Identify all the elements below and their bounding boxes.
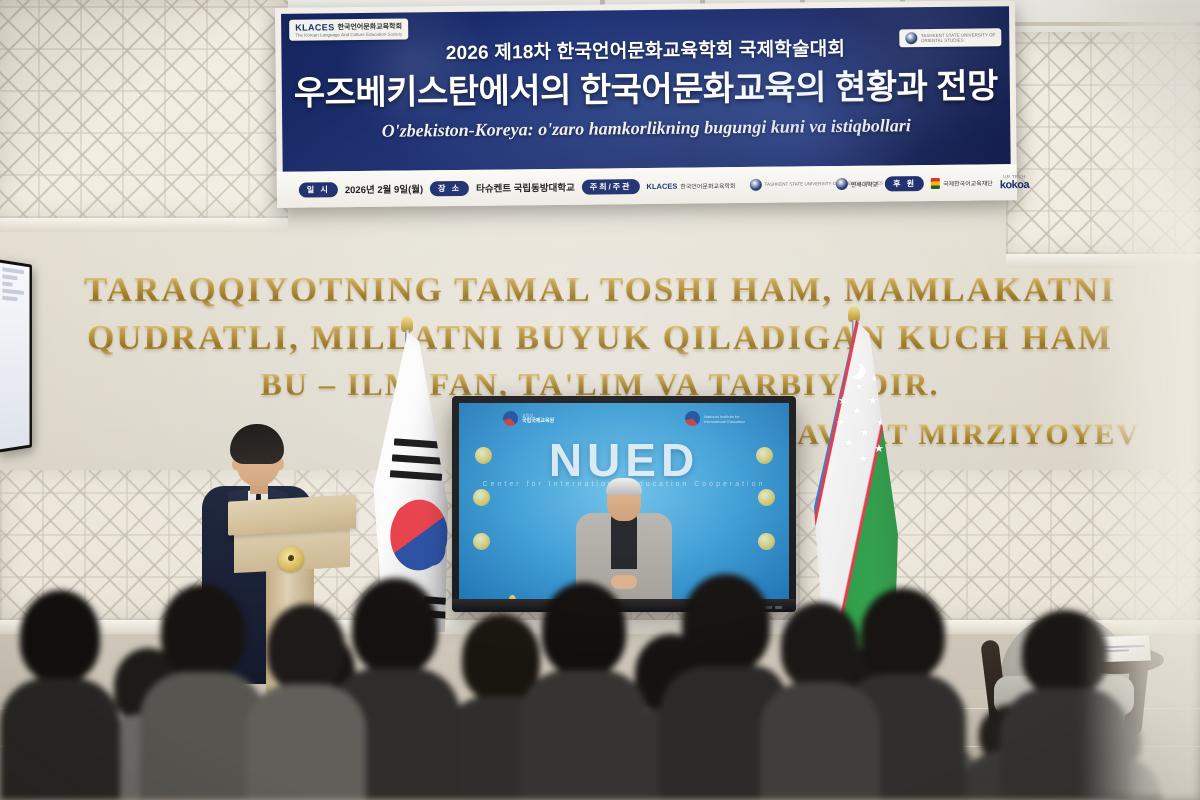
kfef-flag-icon <box>931 177 940 188</box>
taegeuk-mark-icon <box>685 411 700 426</box>
audience-head <box>1022 610 1108 696</box>
display-content-row <box>2 281 12 286</box>
moe-logo-left-text: 교육부 국립국제교육원 <box>522 413 554 424</box>
star-icon: ★ <box>836 418 846 429</box>
lattice-ledge <box>0 218 288 232</box>
footer-host-yonsei-korean: 연세대학교 <box>850 179 878 188</box>
audience-head <box>161 584 245 678</box>
star-icon: ★ <box>854 382 864 393</box>
audience-member <box>0 590 120 800</box>
footer-host-klaces-mark: KLACES <box>646 181 677 190</box>
moe-left-line2: 국립국제교육원 <box>522 418 554 424</box>
trigram-bar <box>392 454 442 464</box>
niied-logo-right-text: National Institute for International Edu… <box>704 414 745 424</box>
star-icon: ★ <box>860 428 870 439</box>
star-icon: ★ <box>868 396 878 407</box>
audience-shoulders <box>246 684 366 800</box>
conference-photo-scene: TARAQQIYOTNING TAMAL TOSHI HAM, MAMLAKAT… <box>0 0 1200 800</box>
footer-sponsor-kfef-korean: 국제한국어교육재단 <box>943 178 993 188</box>
audience-head <box>781 602 859 690</box>
moe-left-line1: 교육부 <box>522 413 554 418</box>
footer-tsuos-seal-icon <box>749 179 761 191</box>
star-icon: ★ <box>838 396 848 407</box>
tv-speaker-hair <box>606 478 642 495</box>
wall-quote-line-2: QUDRATLI, MILLATNI BUYUK QILADIGAN KUCH … <box>0 318 1200 358</box>
trigram-bar <box>394 438 442 448</box>
lattice-panel-left <box>0 0 288 218</box>
lattice-ledge <box>1006 254 1200 268</box>
audience-head <box>20 590 100 682</box>
wall-display-left-screen <box>0 263 30 450</box>
banner-blue-field: KLACES 한국언어문화교육학회 The Korean Language An… <box>281 6 1011 172</box>
display-content-row <box>2 267 23 274</box>
klaces-logo-korean: 한국언어문화교육학회 <box>338 22 403 33</box>
banner-subtitle: O'zbekiston-Koreya: o'zaro hamkorlikning… <box>282 114 1010 143</box>
star-icon: ★ <box>876 418 886 429</box>
audience-member <box>520 582 648 800</box>
display-content-row <box>2 274 17 280</box>
conference-banner: KLACES 한국언어문화교육학회 The Korean Language An… <box>275 0 1017 208</box>
audience-shoulders <box>520 670 648 800</box>
footer-host-yonsei: 연세대학교 <box>835 178 878 190</box>
place-value: 타슈켄트 국립동방대학교 <box>476 180 575 195</box>
presenter-hair <box>230 424 284 464</box>
display-content-row <box>2 296 17 301</box>
audience-head <box>542 582 626 676</box>
star-icon: ★ <box>852 406 862 417</box>
trigram-bar <box>390 470 442 481</box>
award-badge-icon <box>758 489 775 506</box>
footer-sponsor-kfef: 국제한국어교육재단 <box>931 177 993 189</box>
audience-shoulders <box>1000 688 1130 800</box>
award-badge-icon <box>756 447 773 464</box>
award-badge-icon <box>473 489 490 506</box>
lectern-top <box>228 494 356 535</box>
kokoa-logo-text: kokoa <box>1000 178 1029 190</box>
host-label-pill: 주최/주관 <box>582 179 640 195</box>
display-content-row <box>2 289 23 295</box>
award-badge-icon <box>758 533 775 550</box>
date-label-pill: 일 시 <box>299 182 338 197</box>
niied-logo-right: National Institute for International Edu… <box>685 411 745 426</box>
star-icon: ★ <box>844 438 854 449</box>
footer-host-klaces-korean: 한국언어문화교육학회 <box>680 181 735 191</box>
star-icon: ★ <box>874 444 884 455</box>
award-badge-icon <box>473 533 490 550</box>
moe-logo-left: 교육부 국립국제교육원 <box>503 411 554 426</box>
audience-shoulders <box>760 682 880 800</box>
footer-host-klaces: KLACES 한국언어문화교육학회 <box>646 181 735 191</box>
audience-head <box>682 574 770 672</box>
place-label-pill: 장 소 <box>430 180 469 195</box>
star-icon: ★ <box>870 374 880 385</box>
wall-quote-line-1: TARAQQIYOTNING TAMAL TOSHI HAM, MAMLAKAT… <box>0 270 1200 310</box>
sponsor-label-pill: 후 원 <box>885 176 924 191</box>
taegeuk-mark-icon <box>503 411 518 426</box>
audience-shoulders <box>0 678 120 800</box>
footer-host-tsuos: TASHKENT STATE UNIVERSITY OF ORIENTAL ST… <box>749 178 828 191</box>
audience-member <box>1000 610 1130 800</box>
klaces-logo-mark: KLACES <box>295 22 335 32</box>
date-value: 2026년 2월 9일(월) <box>345 181 423 196</box>
award-badge-icon <box>475 447 492 464</box>
audience-head <box>267 604 345 692</box>
wall-display-left[interactable] <box>0 259 32 453</box>
star-icon: ★ <box>882 388 892 399</box>
klaces-logo-english: The Korean Language And Culture Educatio… <box>295 32 402 39</box>
audience <box>0 560 1200 800</box>
audience-head <box>352 578 438 674</box>
banner-headline: 우즈베키스탄에서의 한국어문화교육의 현황과 전망 <box>282 58 1010 115</box>
footer-host-tsuos-name: TASHKENT STATE UNIVERSITY OF ORIENTAL ST… <box>765 181 829 187</box>
footer-sponsor-kokoa: UR TECH kokoa <box>1000 173 1029 190</box>
niied-right-line2: International Education <box>704 419 745 424</box>
footer-yonsei-seal-icon <box>835 178 847 190</box>
star-icon: ★ <box>858 454 868 465</box>
crescent-icon <box>843 359 862 378</box>
lattice-panel-right <box>1006 32 1200 254</box>
